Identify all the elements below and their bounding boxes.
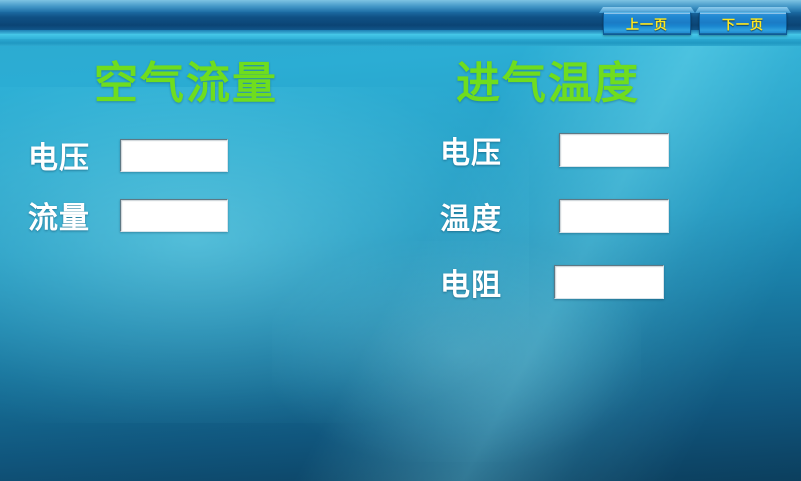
- label-intake-voltage: 电压: [440, 128, 553, 172]
- input-air-flow-rate[interactable]: [120, 199, 228, 232]
- input-intake-voltage[interactable]: [559, 133, 669, 167]
- field-row-air-flow-voltage: 电压: [28, 133, 278, 177]
- panel-intake-air-temperature-heading: 进气温度: [456, 62, 669, 106]
- field-row-air-flow-rate: 流量: [28, 193, 278, 237]
- previous-page-button-label: 上一页: [603, 12, 691, 35]
- app-screen: 上一页 下一页 空气流量 电压 流量 进气温度 电压: [0, 0, 801, 481]
- next-page-button-label: 下一页: [699, 12, 787, 35]
- panel-air-flow: 空气流量 电压 流量: [28, 62, 278, 253]
- field-row-intake-resistance: 电阻: [440, 260, 669, 304]
- label-air-flow-rate: 流量: [28, 193, 120, 237]
- navigation-bar: 上一页 下一页: [603, 12, 787, 35]
- input-intake-resistance[interactable]: [554, 265, 664, 299]
- label-intake-resistance: 电阻: [440, 260, 553, 304]
- main-content: 空气流量 电压 流量 进气温度 电压 温度 电阻: [0, 0, 801, 481]
- label-intake-temperature: 温度: [440, 194, 553, 238]
- input-intake-temperature[interactable]: [559, 199, 669, 233]
- panel-intake-air-temperature: 进气温度 电压 温度 电阻: [440, 62, 669, 326]
- panel-air-flow-heading: 空气流量: [94, 62, 278, 106]
- field-row-intake-temperature: 温度: [440, 194, 669, 238]
- label-air-flow-voltage: 电压: [28, 133, 120, 177]
- input-air-flow-voltage[interactable]: [120, 139, 228, 172]
- next-page-button[interactable]: 下一页: [699, 12, 787, 35]
- previous-page-button[interactable]: 上一页: [603, 12, 691, 35]
- field-row-intake-voltage: 电压: [440, 128, 669, 172]
